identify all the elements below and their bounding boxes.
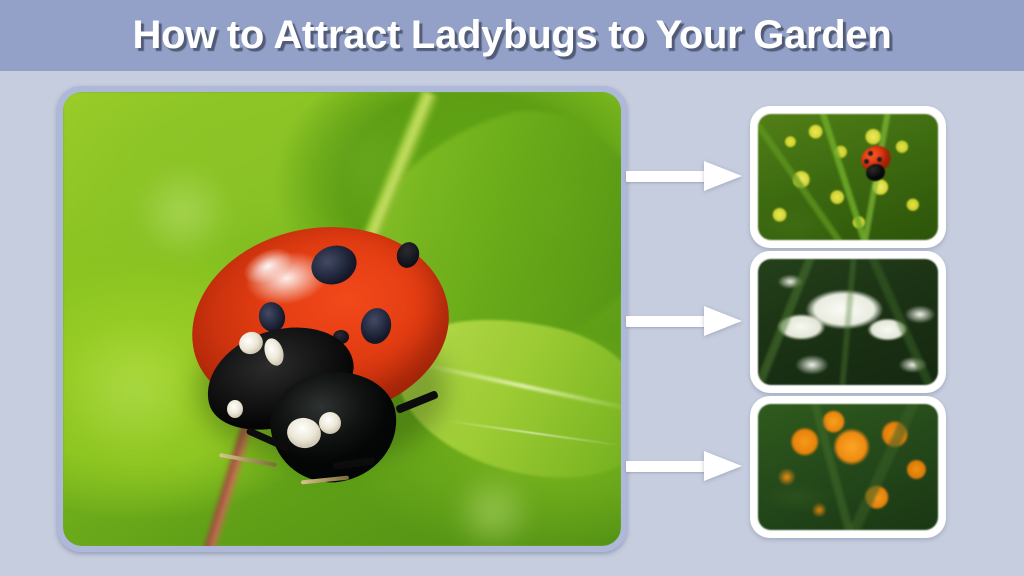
- arrow-to-dill-icon: [626, 161, 742, 191]
- dill-flowers-photo: [758, 114, 938, 240]
- arrow-shaft: [626, 316, 712, 327]
- arrow-head: [704, 451, 742, 481]
- arrow-head: [704, 161, 742, 191]
- arrow-to-marigold-icon: [626, 451, 742, 481]
- yarrow-foliage: [758, 259, 938, 385]
- ladybug-on-leaf-photo: [63, 92, 621, 546]
- thumbnail-yarrow-flowers[interactable]: [750, 251, 946, 393]
- arrow-head: [704, 306, 742, 336]
- marigold-foliage: [758, 404, 938, 530]
- arrow-shaft: [626, 461, 712, 472]
- slide-canvas: How to Attract Ladybugs to Your Garden: [0, 0, 1024, 576]
- ladybug-spot: [877, 157, 882, 162]
- thumbnail-dill-flowers[interactable]: [750, 106, 946, 248]
- arrow-to-yarrow-icon: [626, 306, 742, 336]
- dill-stems: [758, 114, 938, 240]
- arrow-shaft: [626, 171, 712, 182]
- thumbnail-marigold-flowers[interactable]: [750, 396, 946, 538]
- ladybug-spot: [868, 151, 873, 156]
- yarrow-flowers-photo: [758, 259, 938, 385]
- ladybug-white-marking: [319, 412, 341, 434]
- hero-image-frame[interactable]: [57, 86, 627, 552]
- ladybug-white-marking: [227, 400, 243, 418]
- ladybug-icon: [183, 222, 473, 487]
- page-title: How to Attract Ladybugs to Your Garden: [0, 0, 1024, 71]
- marigold-flowers-photo: [758, 404, 938, 530]
